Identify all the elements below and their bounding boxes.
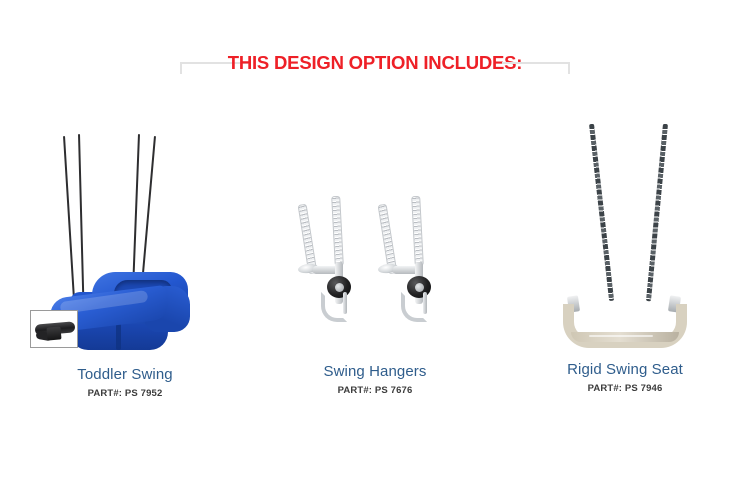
lag-screw [331, 196, 344, 266]
rigid-swing-seat-image [545, 118, 705, 353]
swing-hanger-unit [379, 196, 451, 321]
product-part-number: PART#: PS 7676 [250, 385, 500, 396]
product-name: Toddler Swing [0, 366, 250, 383]
product-card-toddler-swing[interactable]: Toddler Swing PART#: PS 7952 [0, 118, 250, 418]
product-name: Rigid Swing Seat [500, 361, 750, 378]
product-caption: Swing Hangers PART#: PS 7676 [250, 363, 500, 396]
belt-seat-highlight [589, 335, 653, 337]
belt-seat [563, 304, 687, 348]
right-bracket-rule [502, 62, 570, 74]
product-caption: Toddler Swing PART#: PS 7952 [0, 366, 250, 399]
swing-hangers-image [295, 118, 455, 318]
belt-seat-shading [571, 332, 679, 342]
toddler-swing-image [30, 118, 220, 358]
swing-hanger-unit [299, 196, 371, 321]
lag-screw [411, 196, 424, 266]
bushing-core [335, 283, 344, 292]
j-hook [321, 292, 347, 322]
product-part-number: PART#: PS 7946 [500, 383, 750, 394]
belt-buckle [46, 326, 61, 340]
j-hook [401, 292, 427, 322]
product-card-swing-hangers[interactable]: Swing Hangers PART#: PS 7676 [250, 118, 500, 418]
swing-chain [589, 124, 614, 301]
design-option-header: THIS DESIGN OPTION INCLUDES: [0, 44, 750, 84]
product-caption: Rigid Swing Seat PART#: PS 7946 [500, 361, 750, 394]
product-name: Swing Hangers [250, 363, 500, 380]
safety-belt-inset-thumbnail [30, 310, 78, 348]
swing-chain [646, 124, 668, 302]
product-part-number: PART#: PS 7952 [0, 388, 250, 399]
included-products-row: Toddler Swing PART#: PS 7952 [0, 118, 750, 418]
leg-divider [116, 324, 121, 350]
page-title: THIS DESIGN OPTION INCLUDES: [0, 52, 750, 74]
product-card-rigid-swing-seat[interactable]: Rigid Swing Seat PART#: PS 7946 [500, 118, 750, 418]
bushing-core [415, 283, 424, 292]
